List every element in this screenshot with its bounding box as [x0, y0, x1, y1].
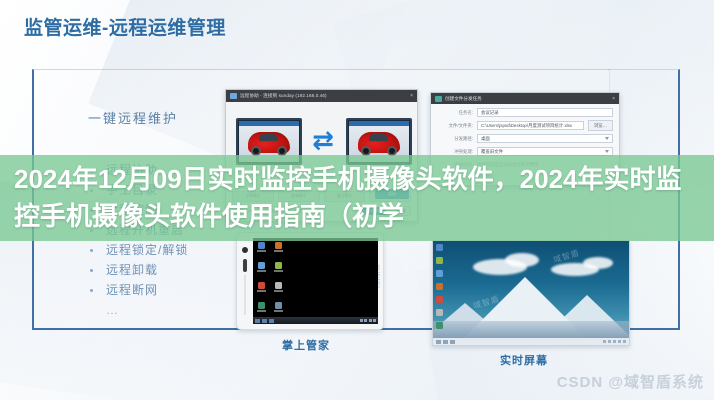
field-label: 任务名: [437, 110, 473, 116]
taskbar-app-icon [262, 319, 267, 323]
form-row-target-path: 分发路径: 桌面 [437, 134, 613, 143]
tablet-device: HUAWEI [236, 232, 384, 330]
tablet-taskbar [253, 317, 378, 324]
close-icon[interactable]: × [410, 93, 413, 99]
remote-taskbar [433, 338, 629, 345]
desktop-icon [436, 244, 443, 251]
realtime-screen-preview: 域智盾 域智盾 [432, 240, 630, 346]
realtime-screen-caption: 实时屏幕 [500, 352, 548, 368]
thumbnail-titlebar [239, 121, 299, 126]
close-icon[interactable]: × [612, 96, 615, 102]
task-name-input[interactable]: 会议记录 [477, 108, 613, 117]
tablet-caption: 掌上管家 [282, 337, 330, 353]
desktop-icon-column [436, 244, 452, 335]
taskbar-start-icon [255, 319, 260, 323]
car-windshield [369, 134, 388, 141]
window-title-bar: 远程协助 - 连接到 sunday (192.168.0.46) × [226, 90, 417, 102]
car-windshield [259, 134, 278, 141]
taskbar-app-icon [450, 340, 455, 344]
cloud-shape [583, 257, 613, 269]
taskbar-tray [360, 319, 377, 322]
car-photo [248, 132, 290, 153]
desktop-icon [436, 322, 443, 329]
monitor-icon [230, 93, 237, 99]
form-row-file-path: 文件/文件夹: C:\Users\jspsd\Desktop\月度测试项目统计.… [437, 121, 613, 130]
thumbnail-titlebar [349, 121, 409, 126]
taskbar-start-icon [436, 340, 441, 344]
file-path-input[interactable]: C:\Users\jspsd\Desktop\月度测试项目统计.xlsx [477, 121, 584, 130]
side-track [244, 275, 246, 315]
browse-button[interactable]: 浏览… [588, 120, 613, 131]
folder-icon [435, 96, 442, 102]
desktop-icon [436, 270, 443, 277]
desktop-icon [436, 283, 443, 290]
csdn-watermark: CSDN @域智盾系统 [557, 371, 704, 392]
desktop-icon [257, 282, 266, 292]
cloud-shape [505, 253, 539, 267]
field-label: 文件/文件夹: [437, 123, 473, 129]
desktop-icon [274, 262, 283, 272]
volume-button-icon [243, 259, 247, 272]
field-label: 分发路径: [437, 136, 473, 142]
swap-icon: ⇄ [304, 126, 342, 154]
slide-title: 监管运维-远程运维管理 [24, 13, 226, 40]
screenshot-canvas: 监管运维-远程运维管理 一键远程维护 远程协助 手工目录 远程控制 远程开机重启… [0, 0, 714, 400]
desktop-icon [436, 309, 443, 316]
desktop-icon-grid [257, 242, 297, 324]
taskbar-app-icon [269, 319, 274, 323]
dialog-title-bar: 创建文件分发任务 × [431, 93, 619, 104]
desktop-icon [257, 302, 266, 312]
window-title: 远程协助 - 连接到 sunday (192.168.0.46) [240, 93, 407, 99]
lead-text: 一键远程维护 [88, 108, 178, 127]
desktop-icon [436, 257, 443, 264]
headline-banner: 2024年12月09日实时监控手机摄像头软件，2024年实时监控手机摄像头软件使… [0, 155, 714, 241]
taskbar-app-icon [443, 340, 448, 344]
headline-text: 2024年12月09日实时监控手机摄像头软件，2024年实时监控手机摄像头软件使… [0, 161, 714, 235]
field-label: 冲突处理: [437, 149, 473, 155]
desktop-icon [274, 302, 283, 312]
target-path-select[interactable]: 桌面 [477, 134, 613, 143]
desktop-icon [274, 242, 283, 252]
tablet-screen [253, 238, 378, 324]
car-photo [358, 132, 400, 153]
taskbar-tray [603, 340, 626, 343]
desktop-icon [436, 296, 443, 303]
desktop-icon [257, 262, 266, 272]
dialog-title: 创建文件分发任务 [445, 96, 609, 102]
mountain-ridge [433, 321, 629, 339]
desktop-icon [257, 242, 266, 252]
desktop-icon [274, 282, 283, 292]
form-row-task-name: 任务名: 会议记录 [437, 108, 613, 117]
home-button-icon [242, 247, 248, 253]
